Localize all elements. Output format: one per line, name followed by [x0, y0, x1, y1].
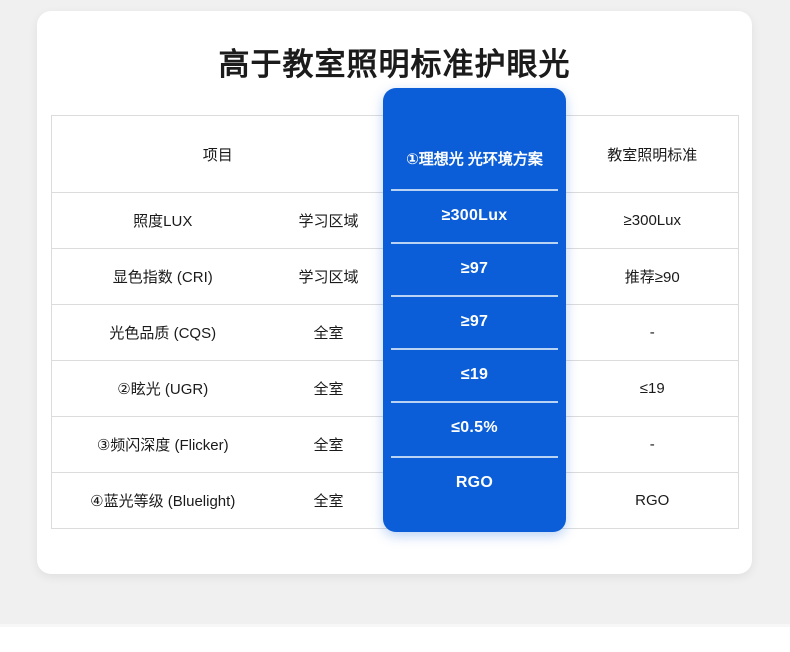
row-standard: - — [567, 417, 739, 473]
row-item-name: ③频闪深度 (Flicker) — [52, 417, 274, 473]
row-item-name: 光色品质 (CQS) — [52, 305, 274, 361]
highlight-cell-value: ≥97 — [383, 242, 566, 295]
row-item-name: 照度LUX — [52, 193, 274, 249]
highlight-cell-value: ≤19 — [383, 348, 566, 401]
row-area: 全室 — [274, 361, 384, 417]
highlight-column-header-label: ①理想光 光环境方案 — [406, 148, 543, 169]
highlight-cell-value: ≤0.5% — [383, 401, 566, 454]
highlight-cell-value: RGO — [383, 456, 566, 509]
header-standard-label: 教室照明标准 — [567, 116, 739, 193]
content-card: 高于教室照明标准护眼光 项目 教室照明标准 照度LUX 学习区域 — [37, 11, 752, 574]
row-standard: 推荐≥90 — [567, 249, 739, 305]
row-area: 学习区域 — [274, 249, 384, 305]
row-standard: RGO — [567, 473, 739, 529]
header-item-label: 项目 — [52, 116, 384, 193]
highlight-column: ①理想光 光环境方案 ≥300Lux ≥97 ≥97 ≤19 ≤0.5% RGO — [383, 88, 566, 532]
highlight-cell-value: ≥97 — [383, 295, 566, 348]
row-item-name: ②眩光 (UGR) — [52, 361, 274, 417]
highlight-cell-value: ≥300Lux — [383, 189, 566, 242]
row-standard: ≤19 — [567, 361, 739, 417]
row-standard: ≥300Lux — [567, 193, 739, 249]
row-area: 学习区域 — [274, 193, 384, 249]
page-title: 高于教室照明标准护眼光 — [37, 45, 752, 85]
row-item-name: ④蓝光等级 (Bluelight) — [52, 473, 274, 529]
row-area: 全室 — [274, 305, 384, 361]
row-area: 全室 — [274, 417, 384, 473]
highlight-column-header: ①理想光 光环境方案 — [383, 88, 566, 201]
row-item-name: 显色指数 (CRI) — [52, 249, 274, 305]
row-area: 全室 — [274, 473, 384, 529]
page-root: 高于教室照明标准护眼光 项目 教室照明标准 照度LUX 学习区域 — [0, 0, 790, 652]
page-background-strip — [0, 624, 790, 627]
row-standard: - — [567, 305, 739, 361]
